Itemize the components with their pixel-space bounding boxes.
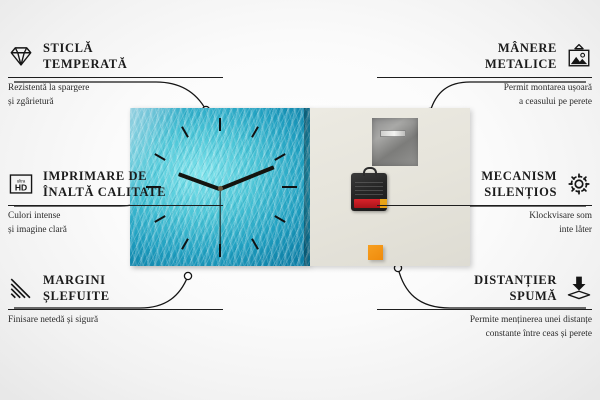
feature-foam-spacer: DISTANȚIER SPUMĂ Permite menținerea unei… <box>377 272 592 341</box>
feature-desc-line1: Rezistentă la spargere <box>8 83 89 93</box>
diagonal-lines-icon <box>8 275 34 301</box>
feature-desc-line2: inte låter <box>559 225 592 235</box>
feature-desc-line1: Klockvisare som <box>529 211 592 221</box>
feature-desc-line1: Culori intense <box>8 211 60 221</box>
diamond-icon <box>8 43 34 69</box>
clock-tick <box>274 153 285 161</box>
feature-header: MARGINI ȘLEFUITE <box>8 272 223 304</box>
clock-tick <box>282 186 297 188</box>
clock-tick <box>251 126 259 137</box>
feature-desc-line2: a ceasului pe perete <box>519 97 592 107</box>
ultra-hd-icon: ultra HD <box>8 171 34 197</box>
feature-divider <box>377 309 592 310</box>
feature-title-line2: METALICE <box>485 57 557 71</box>
feature-title-line2: TEMPERATĂ <box>43 57 127 71</box>
feature-divider <box>8 309 223 310</box>
feature-title: IMPRIMARE DE ÎNALTĂ CALITATE <box>43 168 166 200</box>
clock-tick <box>154 153 165 161</box>
feature-title: STICLĂ TEMPERATĂ <box>43 40 127 72</box>
clock-tick <box>181 238 189 249</box>
feature-title: DISTANȚIER SPUMĂ <box>474 272 557 304</box>
feature-title-line2: SILENȚIOS <box>484 185 557 199</box>
feature-title-line2: ȘLEFUITE <box>43 289 110 303</box>
feature-title-line1: STICLĂ <box>43 41 93 55</box>
feature-high-quality-print: ultra HD IMPRIMARE DE ÎNALTĂ CALITATE Cu… <box>8 168 223 237</box>
feature-polished-edges: MARGINI ȘLEFUITE Finisare netedă și sigu… <box>8 272 223 328</box>
feature-header: ultra HD IMPRIMARE DE ÎNALTĂ CALITATE <box>8 168 223 200</box>
feature-tempered-glass: STICLĂ TEMPERATĂ Rezistentă la spargere … <box>8 40 223 109</box>
feature-description: Permit montarea ușoară a ceasului pe per… <box>377 82 592 109</box>
clock-tick <box>251 238 259 249</box>
feature-title-line2: ÎNALTĂ CALITATE <box>43 185 166 199</box>
feature-header: STICLĂ TEMPERATĂ <box>8 40 223 72</box>
feature-silent-mechanism: MECANISM SILENȚIOS Klockvisare som inte … <box>377 168 592 237</box>
feature-desc-line2: și imagine clară <box>8 225 67 235</box>
feature-desc-line1: Permit montarea ușoară <box>504 83 592 93</box>
picture-frame-hook-icon <box>566 43 592 69</box>
clock-minute-hand <box>219 165 274 190</box>
arrow-down-pad-icon <box>566 275 592 301</box>
feature-desc-line1: Permite menținerea unei distanțe <box>470 315 592 325</box>
feature-title: MARGINI ȘLEFUITE <box>43 272 110 304</box>
feature-divider <box>8 77 223 78</box>
feature-header: MÂNERE METALICE <box>377 40 592 72</box>
feature-header: MECANISM SILENȚIOS <box>377 168 592 200</box>
feature-desc-line2: și zgârietură <box>8 97 54 107</box>
feature-divider <box>8 205 223 206</box>
feature-title-line1: MARGINI <box>43 273 106 287</box>
feature-header: DISTANȚIER SPUMĂ <box>377 272 592 304</box>
movement-hanging-loop <box>363 167 377 176</box>
metal-hanger-plate <box>372 118 418 166</box>
feature-desc-line2: constante între ceas și perete <box>486 329 592 339</box>
feature-metal-handles: MÂNERE METALICE Permit montarea ușoară a… <box>377 40 592 109</box>
feature-description: Finisare netedă și sigură <box>8 314 223 327</box>
feature-divider <box>377 77 592 78</box>
foam-spacer-part <box>368 245 383 260</box>
feature-description: Permite menținerea unei distanțe constan… <box>377 314 592 341</box>
feature-title: MÂNERE METALICE <box>485 40 557 72</box>
feature-divider <box>377 205 592 206</box>
clock-tick <box>274 215 285 223</box>
feature-title-line1: MECANISM <box>481 169 557 183</box>
hanger-slot <box>380 130 406 137</box>
clock-tick <box>219 118 221 131</box>
feature-title-line1: DISTANȚIER <box>474 273 557 287</box>
feature-title-line2: SPUMĂ <box>510 289 557 303</box>
feature-description: Rezistentă la spargere și zgârietură <box>8 82 223 109</box>
feature-description: Klockvisare som inte låter <box>377 210 592 237</box>
feature-title: MECANISM SILENȚIOS <box>481 168 557 200</box>
feature-desc-line1: Finisare netedă și sigură <box>8 315 98 325</box>
feature-title-line1: IMPRIMARE DE <box>43 169 147 183</box>
infographic-canvas: STICLĂ TEMPERATĂ Rezistentă la spargere … <box>0 0 600 400</box>
gear-icon <box>566 171 592 197</box>
clock-tick <box>181 126 189 137</box>
ultra-hd-icon-main-label: HD <box>15 183 27 193</box>
feature-description: Culori intense și imagine clară <box>8 210 223 237</box>
feature-title-line1: MÂNERE <box>498 41 557 55</box>
